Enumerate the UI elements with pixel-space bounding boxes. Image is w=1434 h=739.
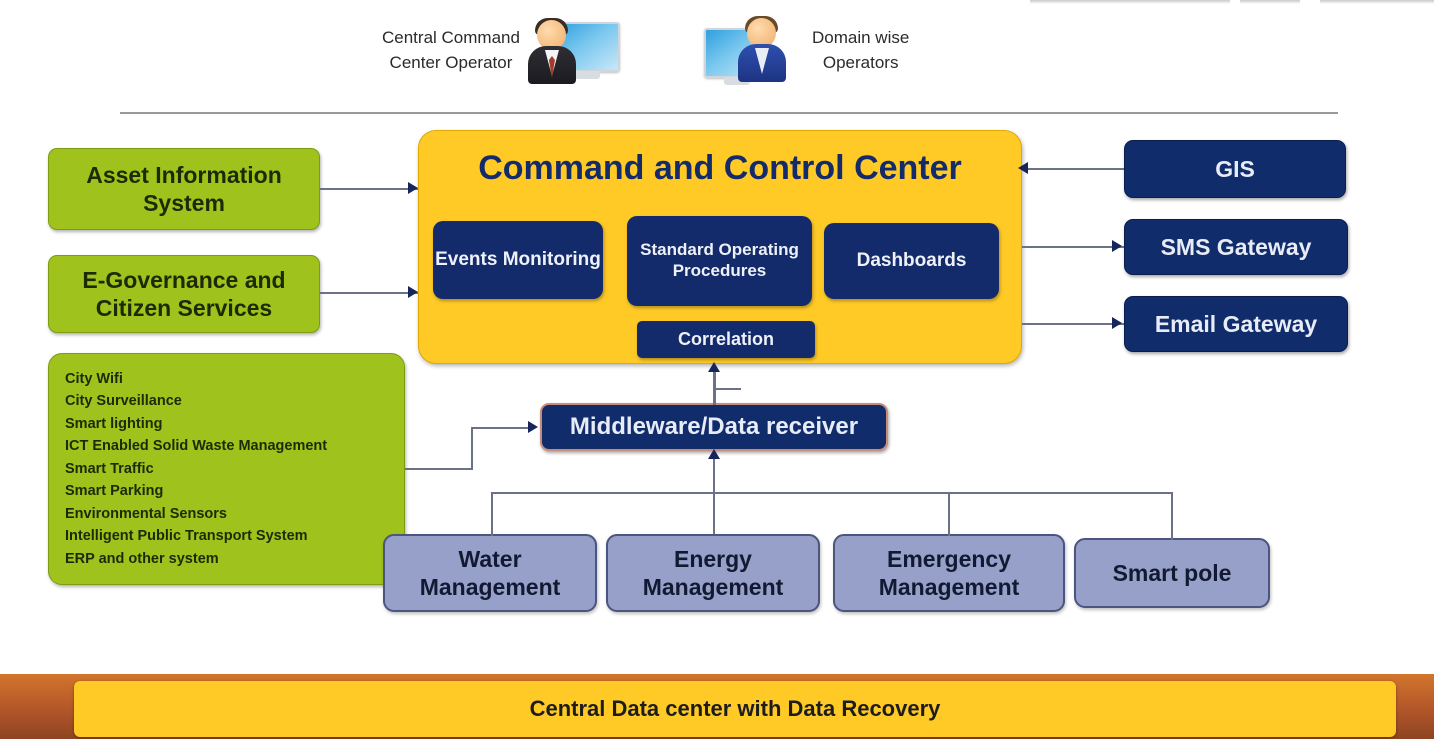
node-label: Email Gateway — [1155, 310, 1317, 338]
module-label: Standard Operating Procedures — [627, 240, 812, 281]
node-label: Emergency Management — [835, 545, 1063, 601]
list-item: ICT Enabled Solid Waste Management — [65, 435, 327, 457]
node-middleware-data-receiver[interactable]: Middleware/Data receiver — [540, 403, 888, 451]
module-correlation[interactable]: Correlation — [637, 321, 815, 358]
footer-data-center-banner[interactable]: Central Data center with Data Recovery — [74, 681, 1396, 737]
top-artifact-strip — [1030, 0, 1230, 4]
top-artifact-strip — [1320, 0, 1434, 4]
list-item: Environmental Sensors — [65, 503, 227, 525]
node-emergency-management[interactable]: Emergency Management — [833, 534, 1065, 612]
connector-middleware-stub — [713, 388, 741, 390]
module-standard-operating-procedures[interactable]: Standard Operating Procedures — [627, 216, 812, 306]
module-label: Events Monitoring — [435, 248, 601, 271]
list-item: City Wifi — [65, 368, 123, 390]
list-item: Smart Traffic — [65, 458, 154, 480]
connector-bus-horizontal — [491, 492, 1173, 494]
arrow-head-right — [408, 286, 418, 298]
diagram-canvas: Central Command Center Operator Domain w… — [0, 0, 1434, 739]
panel-command-and-control-center[interactable]: Command and Control Center Events Monito… — [418, 130, 1022, 364]
connector-bus-riser — [713, 455, 715, 534]
list-item: City Surveillance — [65, 390, 182, 412]
module-events-monitoring[interactable]: Events Monitoring — [433, 221, 603, 299]
node-label: GIS — [1215, 155, 1255, 183]
arrow-head-right — [528, 421, 538, 433]
list-item: ERP and other system — [65, 548, 219, 570]
connector-services-to-middleware — [471, 427, 533, 429]
arrow-head-up — [708, 449, 720, 459]
node-email-gateway[interactable]: Email Gateway — [1124, 296, 1348, 352]
node-sms-gateway[interactable]: SMS Gateway — [1124, 219, 1348, 275]
node-label: Asset Information System — [61, 161, 307, 217]
connector-asset-to-center — [320, 188, 418, 190]
arrow-head-right — [1112, 240, 1122, 252]
node-label: Middleware/Data receiver — [570, 412, 858, 441]
node-egovernance-citizen-services[interactable]: E-Governance and Citizen Services — [48, 255, 320, 333]
connector-center-to-sms — [1022, 246, 1124, 248]
module-label: Correlation — [678, 329, 774, 351]
node-energy-management[interactable]: Energy Management — [606, 534, 820, 612]
node-city-services-list[interactable]: City Wifi City Surveillance Smart lighti… — [48, 353, 405, 585]
connector-services-to-middleware — [471, 427, 473, 470]
node-label: E-Governance and Citizen Services — [61, 266, 307, 322]
node-smart-pole[interactable]: Smart pole — [1074, 538, 1270, 608]
arrow-head-right — [408, 182, 418, 194]
arrow-head-left — [1018, 162, 1028, 174]
operator-label-domain-wise: Domain wise Operators — [812, 26, 909, 75]
node-label: Smart pole — [1113, 559, 1232, 587]
list-item: Intelligent Public Transport System — [65, 525, 308, 547]
operator-domain-wise: Domain wise Operators — [702, 14, 909, 88]
operator-suit-monitor-icon — [520, 14, 616, 88]
node-water-management[interactable]: Water Management — [383, 534, 597, 612]
footer-label: Central Data center with Data Recovery — [530, 696, 941, 722]
connector-water-riser — [491, 492, 493, 536]
connector-egov-to-center — [320, 292, 418, 294]
list-item: Smart lighting — [65, 413, 162, 435]
connector-services-to-middleware — [405, 468, 473, 470]
list-item: Smart Parking — [65, 480, 163, 502]
node-asset-information-system[interactable]: Asset Information System — [48, 148, 320, 230]
module-label: Dashboards — [857, 249, 967, 272]
node-label: SMS Gateway — [1161, 233, 1312, 261]
module-dashboards[interactable]: Dashboards — [824, 223, 999, 299]
connector-emergency-riser — [948, 492, 950, 536]
operator-label-central-command: Central Command Center Operator — [382, 26, 520, 75]
connector-center-to-email — [1022, 323, 1124, 325]
connector-smartpole-riser — [1171, 492, 1173, 540]
node-label: Energy Management — [608, 545, 818, 601]
node-label: Water Management — [385, 545, 595, 601]
header-divider — [120, 112, 1338, 114]
arrow-head-up — [708, 362, 720, 372]
connector-gis-to-center — [1022, 168, 1124, 170]
page-title: Command and Control Center — [419, 149, 1021, 188]
node-gis[interactable]: GIS — [1124, 140, 1346, 198]
top-artifact-strip — [1240, 0, 1300, 4]
operator-casual-monitor-icon — [702, 14, 798, 88]
arrow-head-right — [1112, 317, 1122, 329]
operator-central-command: Central Command Center Operator — [382, 14, 616, 88]
